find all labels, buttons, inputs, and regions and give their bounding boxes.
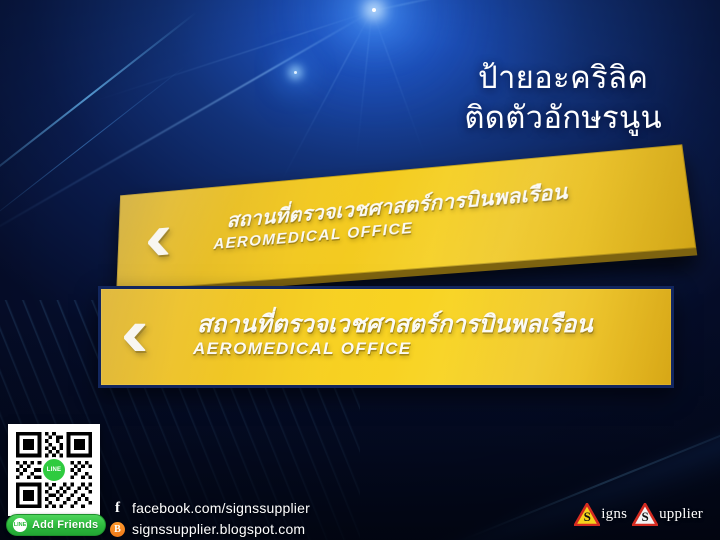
brand-supplier: S upplier [632, 503, 708, 526]
sign-face: ‹ สถานที่ตรวจเวชศาสตร์การบินพลเรือน AERO… [116, 144, 697, 298]
chevron-left-icon: ‹ [120, 297, 149, 367]
sign-thai-text: สถานที่ตรวจเวชศาสตร์การบินพลเรือน [197, 304, 593, 343]
sign-flat: ‹ สถานที่ตรวจเวชศาสตร์การบินพลเรือน AERO… [98, 286, 674, 388]
brand-mark-letter: S [584, 510, 591, 526]
line-logo-icon: LINE [41, 457, 67, 483]
headline: ป้ายอะคริลิค ติดตัวอักษรนูน [464, 58, 662, 137]
social-link-blog[interactable]: B signssupplier.blogspot.com [110, 521, 310, 537]
social-links: f facebook.com/signssupplier B signssupp… [110, 500, 310, 537]
light-burst-small-icon [294, 71, 297, 74]
headline-line-1: ป้ายอะคริลิค [464, 58, 662, 98]
chevron-left-icon: ‹ [143, 201, 173, 272]
line-qr-code[interactable]: LINE [8, 424, 100, 516]
facebook-url: facebook.com/signssupplier [132, 500, 310, 516]
headline-line-2: ติดตัวอักษรนูน [464, 98, 662, 138]
brand-mark-letter: S [641, 510, 648, 526]
add-friends-label: Add Friends [32, 519, 98, 531]
blog-url: signssupplier.blogspot.com [132, 521, 305, 537]
sign-perspective: ‹ สถานที่ตรวจเวชศาสตร์การบินพลเรือน AERO… [102, 168, 680, 286]
facebook-icon: f [110, 501, 125, 516]
sign-english-text: AEROMEDICAL OFFICE [193, 339, 412, 359]
light-burst-icon [372, 8, 376, 12]
brand-logo: S igns S upplier [574, 503, 708, 526]
line-icon: LINE [13, 518, 27, 532]
brand-word-signs: igns [601, 506, 627, 523]
warning-triangle-icon: S [574, 503, 600, 526]
warning-triangle-icon: S [632, 503, 658, 526]
brand-word-supplier: upplier [659, 506, 703, 523]
social-link-facebook[interactable]: f facebook.com/signssupplier [110, 500, 310, 516]
brand-signs: S igns [574, 503, 632, 526]
blogger-icon: B [110, 522, 125, 537]
promo-image: ป้ายอะคริลิค ติดตัวอักษรนูน ‹ สถานที่ตรว… [0, 0, 720, 540]
add-friends-button[interactable]: LINE Add Friends [6, 514, 106, 536]
